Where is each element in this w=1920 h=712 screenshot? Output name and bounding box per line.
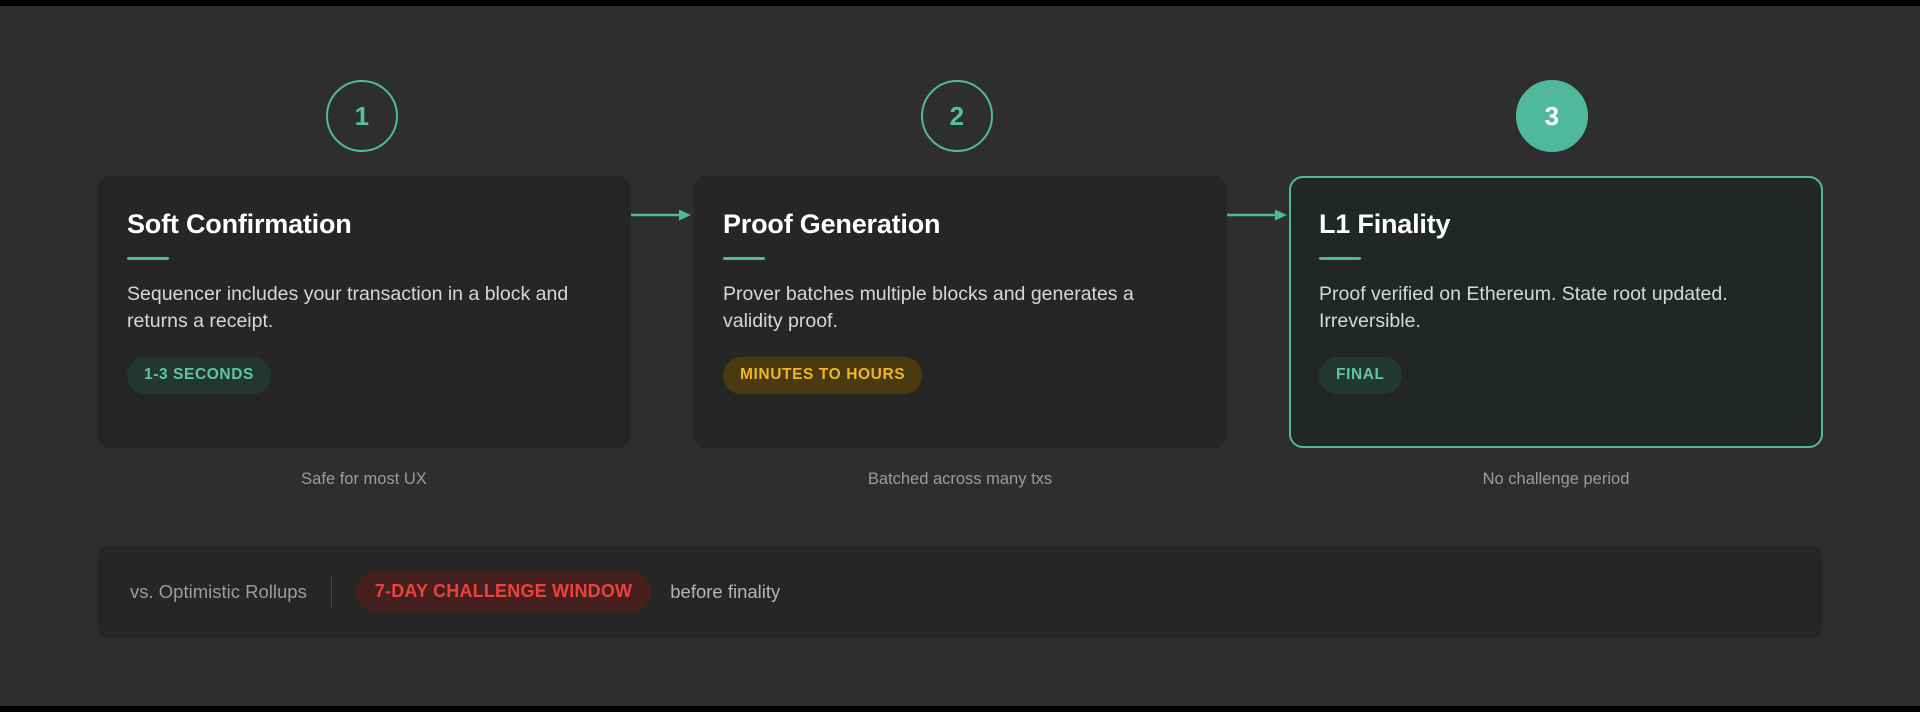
step-card-description: Proof verified on Ethereum. State root u… xyxy=(1319,281,1789,336)
step-circle-1: 1 xyxy=(326,80,398,152)
challenge-window-badge: 7-DAY CHALLENGE WINDOW xyxy=(356,572,651,612)
step-number-2: 2 xyxy=(950,101,965,132)
step-card-badge: 1-3 SECONDS xyxy=(127,357,271,394)
step-card-badge: MINUTES TO HOURS xyxy=(723,357,922,394)
step-circle-2: 2 xyxy=(921,80,993,152)
arrow-step-1-to-2-icon xyxy=(631,208,693,222)
step-caption: Safe for most UX xyxy=(97,470,631,489)
step-number-3: 3 xyxy=(1545,101,1560,132)
arrow-step-2-to-3-icon xyxy=(1227,208,1289,222)
step-card-soft-confirmation[interactable]: Soft Confirmation Sequencer includes you… xyxy=(97,176,631,448)
comparison-suffix: before finality xyxy=(670,581,780,603)
step-card-title: Proof Generation xyxy=(723,210,1197,240)
vertical-divider xyxy=(331,575,332,609)
screenshot-root: 1 2 3 Soft Confirmation Sequencer includ… xyxy=(0,0,1920,712)
step-caption: Batched across many txs xyxy=(693,470,1227,489)
step-card-proof-generation[interactable]: Proof Generation Prover batches multiple… xyxy=(693,176,1227,448)
flow-panel: 1 2 3 Soft Confirmation Sequencer includ… xyxy=(0,6,1920,706)
step-card-title: L1 Finality xyxy=(1319,210,1793,240)
step-circles-row: 1 2 3 xyxy=(97,80,1823,152)
title-underline-rule xyxy=(1319,257,1361,260)
step-card-title: Soft Confirmation xyxy=(127,210,601,240)
step-cards-row: Soft Confirmation Sequencer includes you… xyxy=(97,176,1823,448)
step-caption: No challenge period xyxy=(1289,470,1823,489)
step-circle-3: 3 xyxy=(1516,80,1588,152)
step-card-badge: FINAL xyxy=(1319,357,1402,394)
step-card-description: Prover batches multiple blocks and gener… xyxy=(723,281,1193,336)
step-captions-row: Safe for most UX Batched across many txs… xyxy=(97,470,1823,496)
comparison-label: vs. Optimistic Rollups xyxy=(130,581,307,603)
title-underline-rule xyxy=(127,257,169,260)
step-card-l1-finality[interactable]: L1 Finality Proof verified on Ethereum. … xyxy=(1289,176,1823,448)
comparison-footer-bar: vs. Optimistic Rollups 7-DAY CHALLENGE W… xyxy=(97,546,1823,638)
step-card-description: Sequencer includes your transaction in a… xyxy=(127,281,597,336)
step-number-1: 1 xyxy=(355,101,370,132)
title-underline-rule xyxy=(723,257,765,260)
